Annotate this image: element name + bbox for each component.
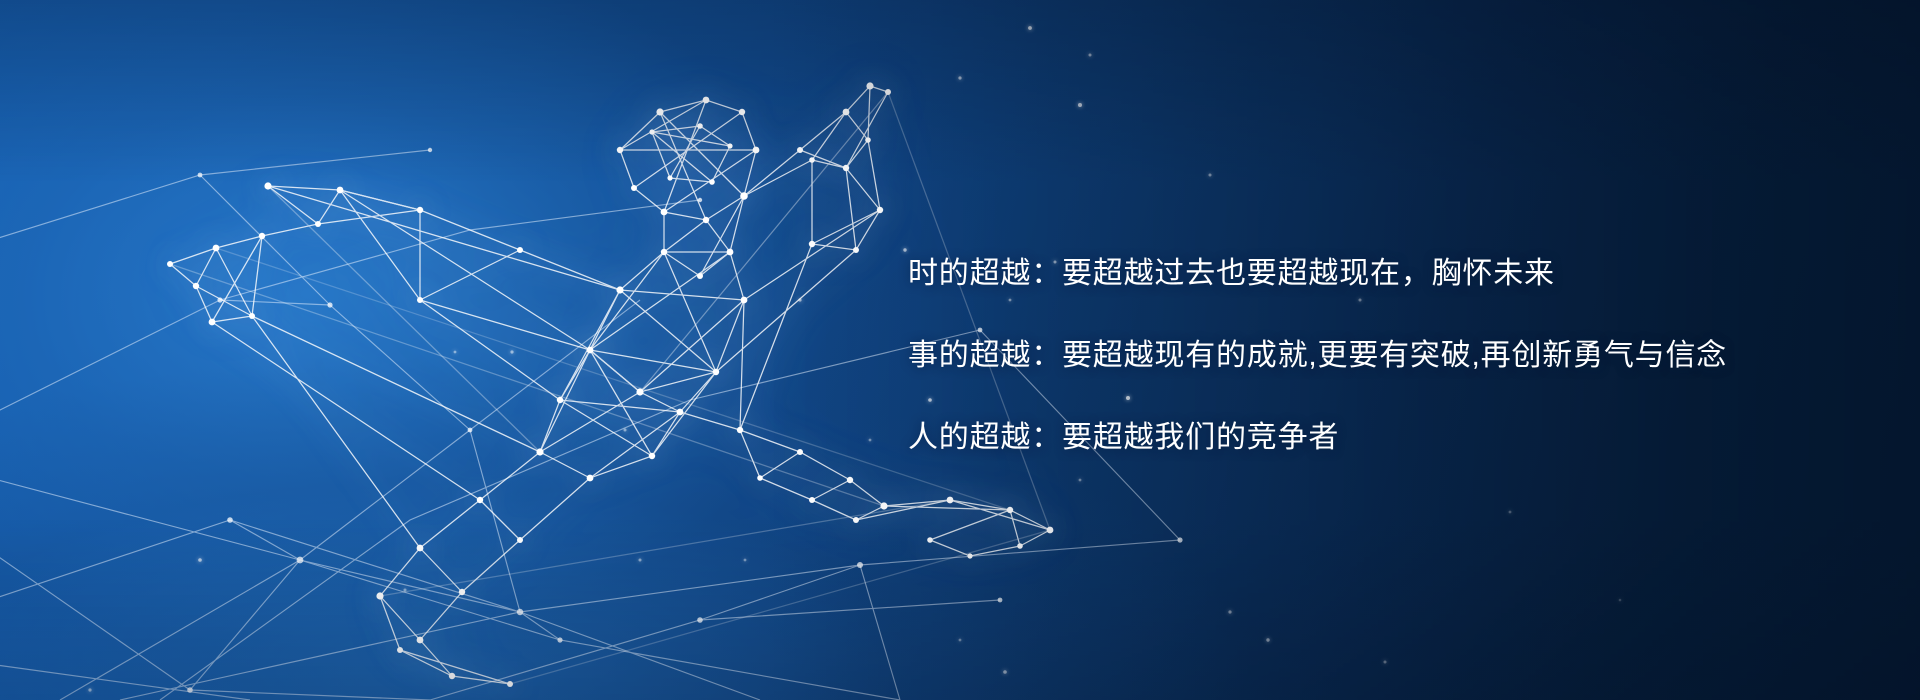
tagline-line-people: 人的超越：要超越我们的竞争者	[908, 397, 1838, 479]
banner-stage: 时的超越：要超越过去也要超越现在，胸怀未来 事的超越：要超越现有的成就,更要有突…	[0, 0, 1920, 700]
tagline-line-matter: 事的超越：要超越现有的成就,更要有突破,再创新勇气与信念	[908, 315, 1838, 397]
tagline-block: 时的超越：要超越过去也要超越现在，胸怀未来 事的超越：要超越现有的成就,更要有突…	[908, 233, 1838, 479]
tagline-line-time: 时的超越：要超越过去也要超越现在，胸怀未来	[908, 233, 1838, 315]
